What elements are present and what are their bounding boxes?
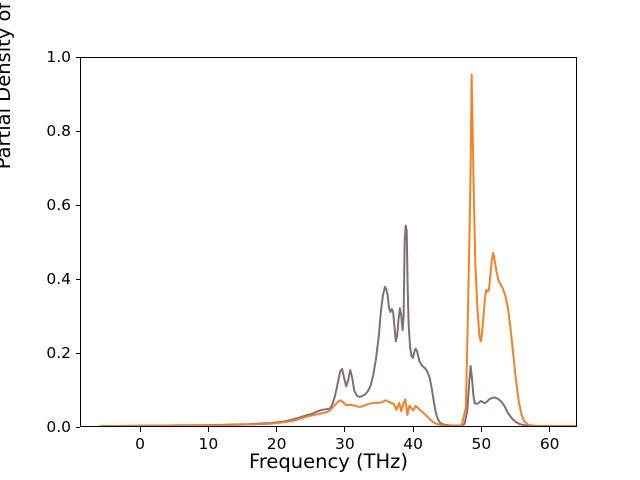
x-axis-title: Frequency (THz) bbox=[80, 450, 577, 473]
series-gray-line bbox=[101, 225, 576, 426]
x-tick-mark bbox=[481, 427, 482, 432]
x-tick-mark bbox=[208, 427, 209, 432]
x-tick-mark bbox=[276, 427, 277, 432]
series-gray-group bbox=[101, 225, 576, 426]
y-tick-label: 0.6 bbox=[46, 196, 71, 214]
series-orange-group bbox=[101, 75, 576, 426]
y-tick-label: 0.4 bbox=[46, 270, 71, 288]
plot-area bbox=[80, 57, 577, 427]
y-tick-label: 1.0 bbox=[46, 48, 71, 66]
x-tick-mark bbox=[549, 427, 550, 432]
x-tick-mark bbox=[140, 427, 141, 432]
curves-svg bbox=[81, 58, 576, 426]
y-tick-label: 0.0 bbox=[46, 418, 71, 436]
figure-canvas: 0.00.20.40.60.81.0 0102030405060 Partial… bbox=[0, 0, 640, 480]
y-axis-title: Partial Density of States bbox=[0, 0, 15, 242]
y-tick-label: 0.8 bbox=[46, 122, 71, 140]
series-orange-line bbox=[101, 75, 576, 426]
y-tick-label: 0.2 bbox=[46, 344, 71, 362]
x-tick-mark bbox=[413, 427, 414, 432]
x-tick-mark bbox=[344, 427, 345, 432]
